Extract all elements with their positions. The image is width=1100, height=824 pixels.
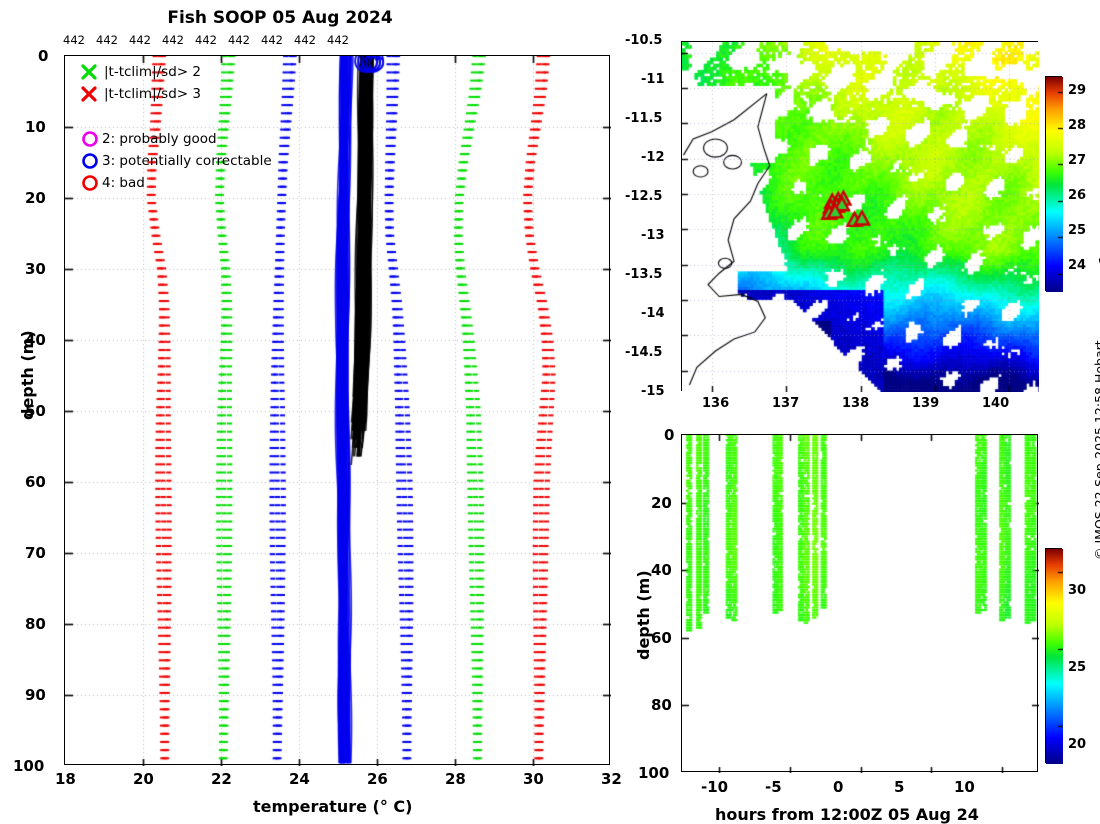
- y-tick: 100: [13, 757, 44, 775]
- copyright-wrap: © IMOS 22-Sep-2025 12:58 Hobart: [1092, 560, 1100, 575]
- profile-panel: 442 442 442 442 442 442 442 442 442 0 10…: [0, 0, 620, 820]
- lat-tick: -13: [641, 228, 665, 243]
- lon-tick: 140: [982, 396, 1009, 411]
- lat-tick: -11.5: [625, 111, 662, 126]
- x-tick: 18: [55, 770, 76, 788]
- hour-tick: -5: [765, 778, 782, 796]
- top-label: 442: [294, 33, 316, 47]
- legend-label: |t-tclim|/sd> 3: [104, 86, 201, 102]
- legend-label: |t-tclim|/sd> 2: [104, 64, 201, 80]
- y-tick: 0: [38, 47, 48, 65]
- top-label: 442: [162, 33, 184, 47]
- y-tick: 90: [25, 686, 46, 704]
- legend-label: 2: probably good: [102, 131, 217, 147]
- lon-tick: 138: [842, 396, 869, 411]
- lat-tick: -14: [641, 306, 665, 321]
- profile-ylabel-wrap: depth (m): [18, 420, 108, 439]
- y-tick: 20: [25, 189, 46, 207]
- circle-marker-icon: [80, 129, 100, 153]
- time-canvas: [682, 435, 1039, 773]
- circle-marker-icon: [80, 151, 100, 175]
- lat-tick: -12: [641, 150, 665, 165]
- hour-tick: 0: [833, 778, 843, 796]
- time-ylabel: depth (m): [634, 570, 653, 660]
- cbar-tick: 26: [1068, 188, 1086, 203]
- lon-tick: 139: [912, 396, 939, 411]
- cbar-tick: 29: [1068, 83, 1086, 98]
- x-marker-icon: [80, 63, 98, 85]
- y-tick: 10: [25, 118, 46, 136]
- top-label: 442: [327, 33, 349, 47]
- profile-ylabel: depth (m): [18, 330, 37, 420]
- map-canvas: [682, 42, 1039, 392]
- y-tick: 70: [25, 544, 46, 562]
- x-tick: 32: [601, 770, 622, 788]
- top-label: 442: [129, 33, 151, 47]
- profile-top-labels: 442 442 442 442 442 442 442 442 442: [63, 33, 563, 49]
- top-label: 442: [96, 33, 118, 47]
- legend-label: 3: potentially correctable: [102, 153, 272, 169]
- top-label: 442: [63, 33, 85, 47]
- lat-tick: -14.5: [625, 345, 662, 360]
- legend-label: 4: bad: [102, 175, 145, 191]
- map-colorbar: [1045, 76, 1062, 291]
- depth-tick: 20: [651, 494, 672, 512]
- x-tick: 26: [367, 770, 388, 788]
- depth-tick: 40: [651, 561, 672, 579]
- x-tick: 20: [133, 770, 154, 788]
- x-marker-icon: [80, 85, 98, 107]
- hour-tick: 10: [954, 778, 975, 796]
- cbar-tick: 25: [1068, 223, 1086, 238]
- cbar-tick: 28: [1068, 118, 1086, 133]
- time-plot-area: [681, 434, 1038, 772]
- time-colorbar-canvas: [1046, 549, 1063, 764]
- top-label: 442: [195, 33, 217, 47]
- cbar-tick: 24: [1068, 258, 1086, 273]
- top-label: 442: [228, 33, 250, 47]
- hour-tick: -10: [701, 778, 728, 796]
- cbar-tick: 30: [1068, 583, 1086, 598]
- lat-tick: -12.5: [625, 189, 662, 204]
- depth-tick: 100: [638, 764, 669, 782]
- lat-tick: -13.5: [625, 267, 662, 282]
- lat-tick: -11: [641, 72, 665, 87]
- profile-xlabel: temperature (° C): [253, 797, 412, 816]
- circle-marker-icon: [80, 173, 100, 197]
- cbar-tick: 20: [1068, 737, 1086, 752]
- hour-tick: 5: [894, 778, 904, 796]
- map-panel: -10.5 -11 -11.5 -12 -12.5 -13 -13.5 -14 …: [620, 0, 1100, 420]
- x-tick: 24: [289, 770, 310, 788]
- time-colorbar: [1045, 548, 1062, 763]
- lat-tick: -10.5: [625, 33, 662, 48]
- y-tick: 30: [25, 260, 46, 278]
- depth-tick: 60: [651, 629, 672, 647]
- lon-tick: 136: [702, 396, 729, 411]
- lat-tick: -15: [641, 384, 665, 399]
- x-tick: 28: [445, 770, 466, 788]
- map-colorbar-canvas: [1046, 77, 1063, 292]
- top-label: 442: [261, 33, 283, 47]
- depth-tick: 80: [651, 696, 672, 714]
- x-tick: 22: [211, 770, 232, 788]
- x-tick: 30: [523, 770, 544, 788]
- lon-tick: 137: [772, 396, 799, 411]
- y-tick: 80: [25, 615, 46, 633]
- time-xlabel: hours from 12:00Z 05 Aug 24: [715, 805, 979, 824]
- profile-legend: |t-tclim|/sd> 2 |t-tclim|/sd> 3 2: proba…: [80, 63, 360, 195]
- depth-tick: 0: [664, 426, 674, 444]
- time-section-panel: 0 20 40 60 80 100 -10 -5 0 5 10 hours fr…: [620, 420, 1100, 820]
- cbar-tick: 27: [1068, 153, 1086, 168]
- cbar-tick: 25: [1068, 660, 1086, 675]
- y-tick: 60: [25, 473, 46, 491]
- copyright-text: © IMOS 22-Sep-2025 12:58 Hobart: [1092, 340, 1100, 560]
- time-ylabel-wrap: depth (m): [634, 660, 724, 679]
- map-plot-area: [681, 41, 1038, 391]
